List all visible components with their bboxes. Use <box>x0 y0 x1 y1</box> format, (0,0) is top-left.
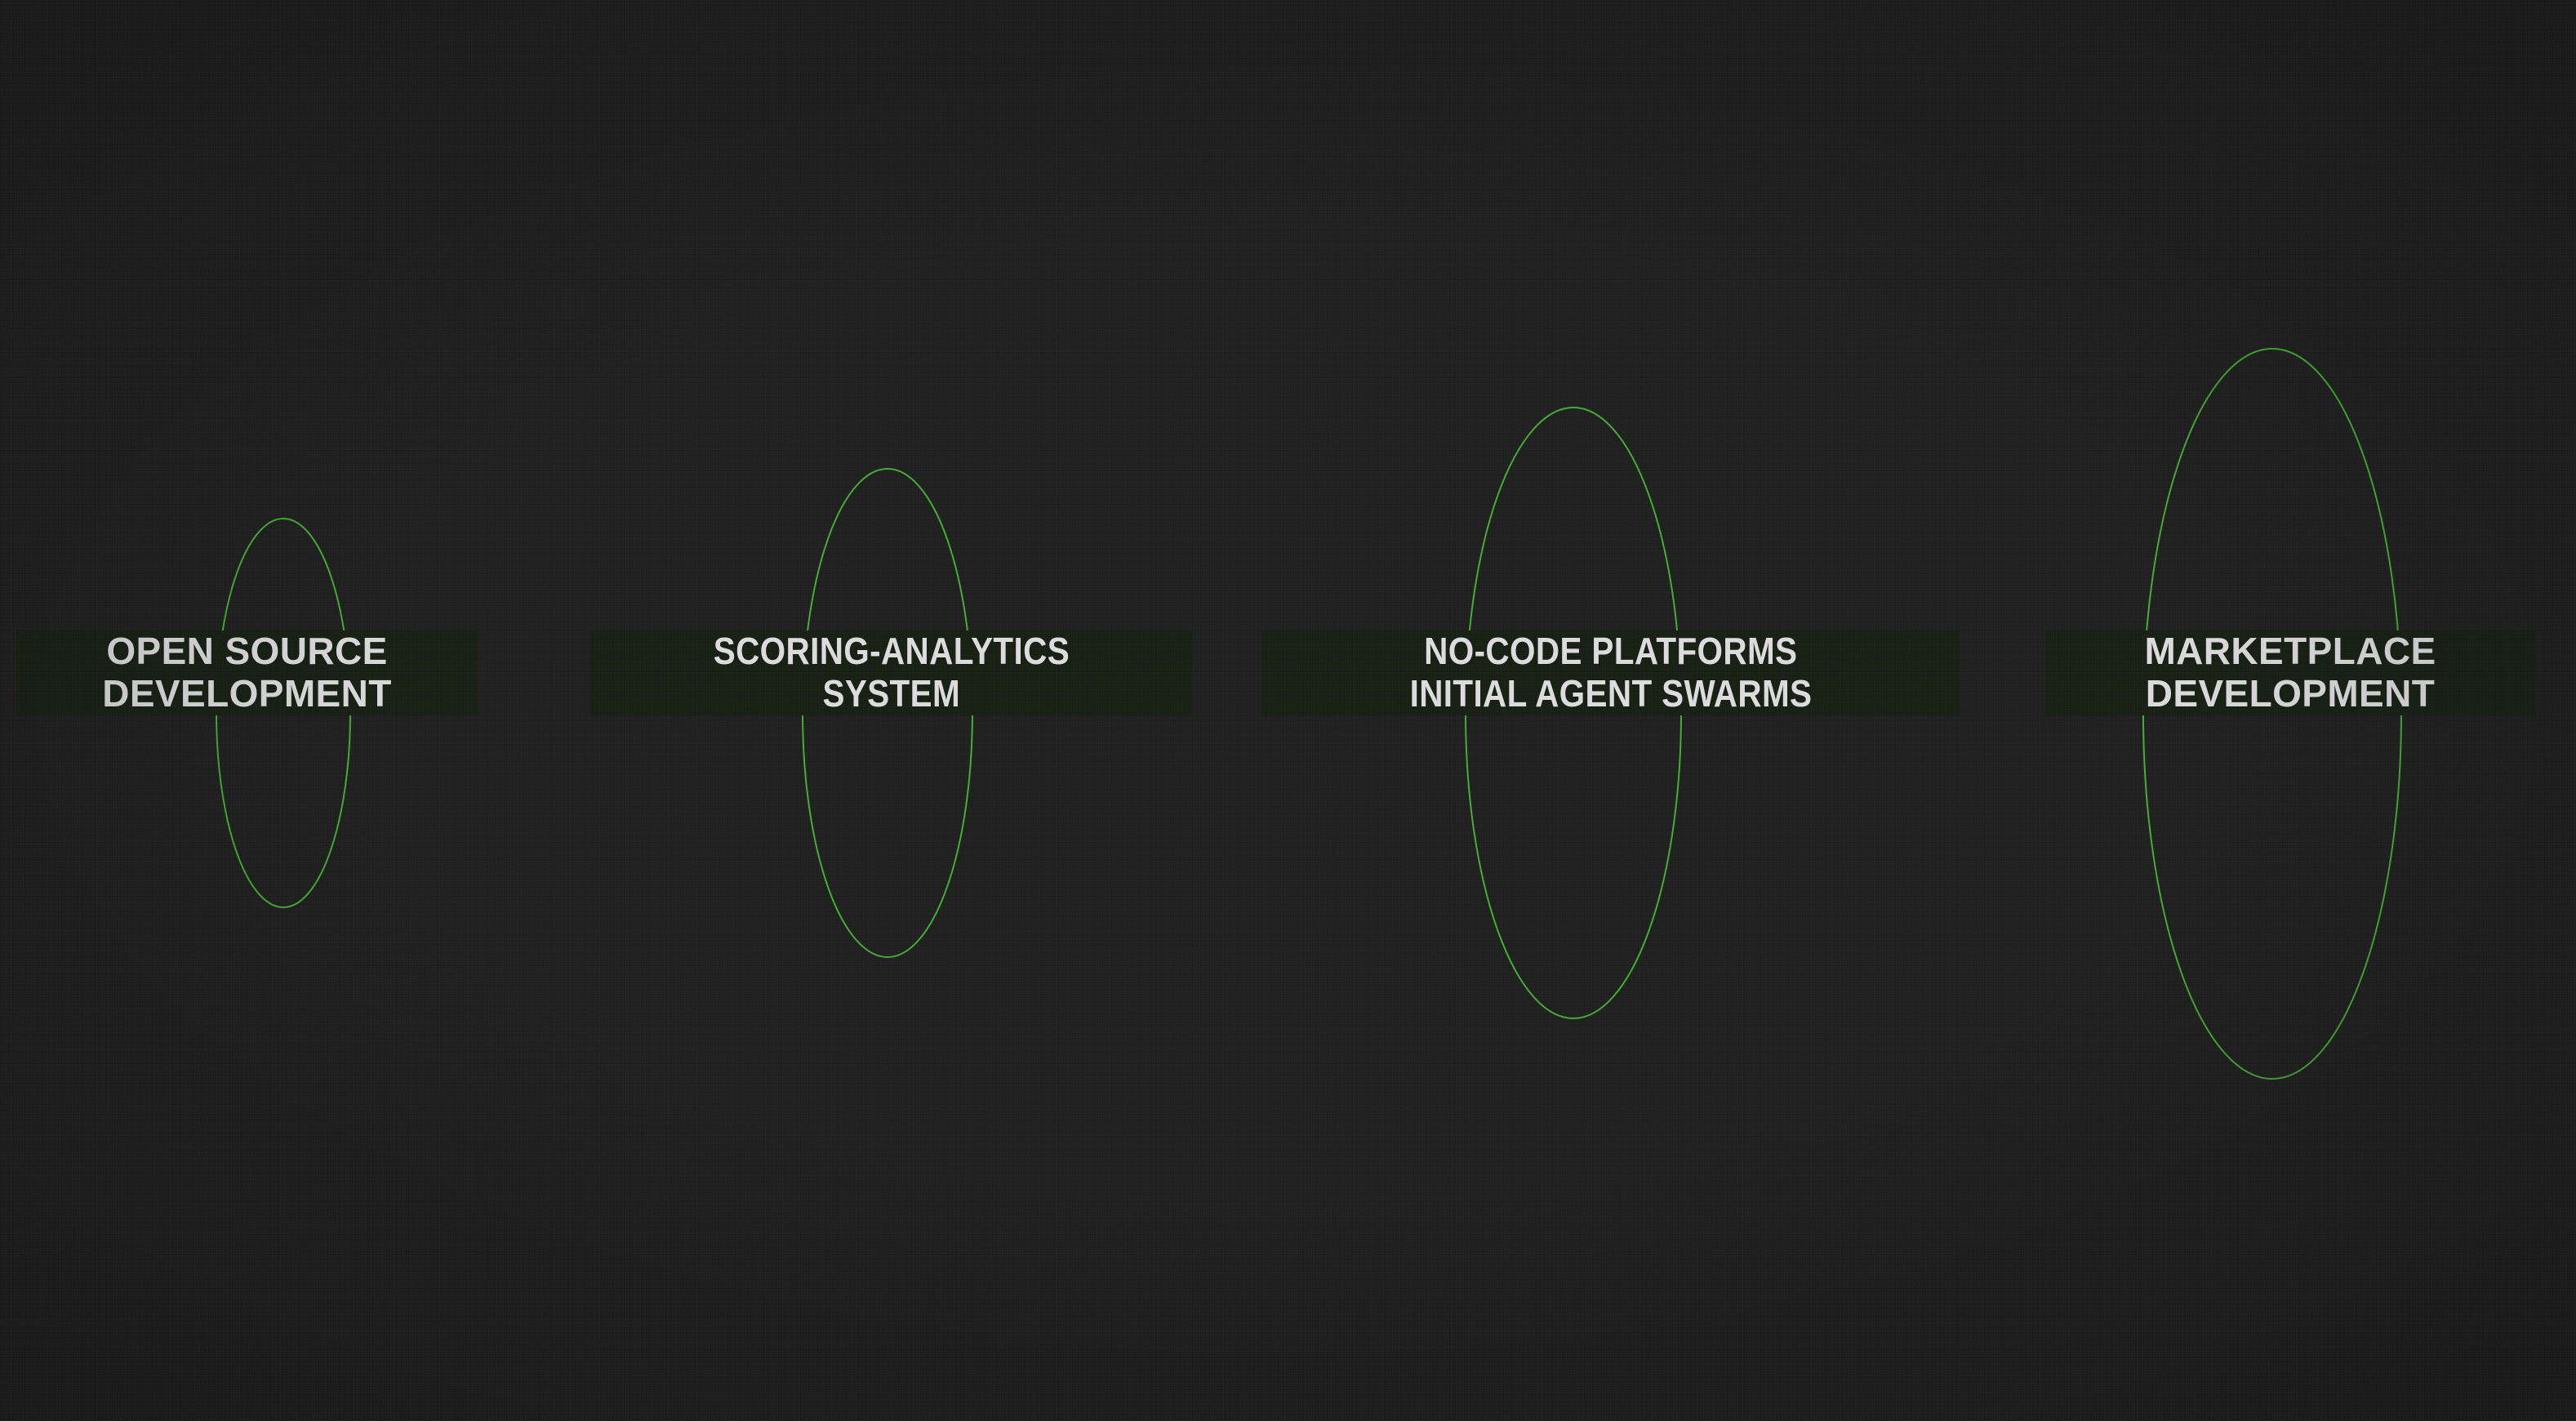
phase-label-line: INITIAL AGENT SWARMS <box>1409 673 1812 715</box>
phase-label-line: DEVELOPMENT <box>2146 673 2436 715</box>
phase-label-box-marketplace-development: MARKETPLACEDEVELOPMENT <box>2045 630 2535 715</box>
phase-label-line: NO-CODE PLATFORMS <box>1424 630 1797 673</box>
phase-label-box-no-code-platforms-initial-agent-swarms: NO-CODE PLATFORMSINITIAL AGENT SWARMS <box>1261 630 1960 715</box>
diagram-canvas: OPEN SOURCEDEVELOPMENTSCORING-ANALYTICSS… <box>0 0 2576 1421</box>
phase-label-line: DEVELOPMENT <box>102 673 392 715</box>
phase-label-line: SCORING-ANALYTICS <box>713 630 1069 673</box>
phase-label-line: OPEN SOURCE <box>106 630 387 673</box>
phase-label-line: SYSTEM <box>822 673 960 715</box>
phase-label-line: MARKETPLACE <box>2144 630 2436 673</box>
phase-label-box-open-source-development: OPEN SOURCEDEVELOPMENT <box>16 630 478 715</box>
phase-label-box-scoring-analytics-system: SCORING-ANALYTICSSYSTEM <box>590 630 1192 715</box>
